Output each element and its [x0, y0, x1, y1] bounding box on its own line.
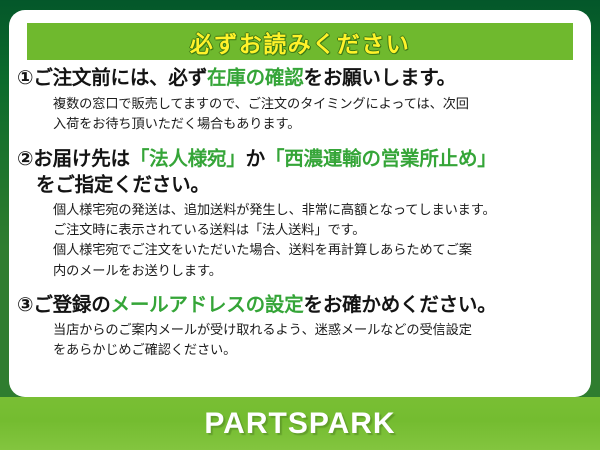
notice-items-list: ①ご注文前には、必ず在庫の確認をお願いします。 複数の窓口で販売してますので、ご… [9, 66, 591, 360]
footer-brand-bar: PARTSPARK [0, 397, 600, 450]
notice-item-3: ③ご登録のメールアドレスの設定をお確かめください。 当店からのご案内メールが受け… [9, 293, 591, 361]
notice-item-2-heading-highlight: 「法人様宛」 [130, 148, 246, 170]
notice-item-2-heading-highlight-2: 「西濃運輸の営業所止め」 [265, 148, 497, 170]
notice-item-2-body-line-3: 個人様宅宛でご注文をいただいた場合、送料を再計算しあらためてご案 [53, 240, 581, 260]
notice-item-2-heading-line-2: をご指定ください。 [17, 173, 581, 199]
notice-item-2-heading-mid: か [246, 148, 265, 170]
notice-item-1-body-line-1: 複数の窓口で販売してますので、ご注文のタイミングによっては、次回 [53, 94, 581, 114]
notice-item-2-body: 個人様宅宛の発送は、追加送料が発生し、非常に高額となってしまいます。 ご注文時に… [17, 198, 581, 280]
notice-item-1-body-line-2: 入荷をお待ち頂いただく場合もあります。 [53, 114, 581, 134]
notice-card: 必ずお読みください ①ご注文前には、必ず在庫の確認をお願いします。 複数の窓口で… [9, 10, 591, 397]
notice-item-2: ②お届け先は「法人様宛」か「西濃運輸の営業所止め」 をご指定ください。 個人様宅… [9, 147, 591, 281]
notice-item-1-body: 複数の窓口で販売してますので、ご注文のタイミングによっては、次回 入荷をお待ち頂… [17, 92, 581, 134]
notice-item-1-heading-pre: ご注文前には、必ず [33, 67, 207, 89]
notice-item-2-heading: ②お届け先は「法人様宛」か「西濃運輸の営業所止め」 [17, 147, 581, 173]
notice-item-3-body-line-1: 当店からのご案内メールが受け取れるよう、迷惑メールなどの受信設定 [53, 320, 581, 340]
notice-item-2-body-line-4: 内のメールをお送りします。 [53, 261, 581, 281]
notice-item-1-heading: ①ご注文前には、必ず在庫の確認をお願いします。 [17, 66, 581, 92]
notice-item-3-body-line-2: をあらかじめご確認ください。 [53, 340, 581, 360]
notice-item-1-heading-post: をお願いします。 [304, 67, 456, 89]
notice-item-3-heading-highlight: メールアドレスの設定 [111, 294, 304, 316]
notice-item-2-number: ② [17, 148, 33, 170]
notice-banner: 必ずお読みください ①ご注文前には、必ず在庫の確認をお願いします。 複数の窓口で… [0, 0, 600, 450]
notice-item-1-number: ① [17, 67, 33, 89]
notice-item-3-heading-pre: ご登録の [33, 294, 110, 316]
notice-item-2-heading-pre: お届け先は [33, 148, 130, 170]
brand-name: PARTSPARK [204, 407, 395, 441]
header-band: 必ずお読みください [27, 23, 573, 60]
notice-item-3-heading-post: をお確かめください。 [304, 294, 497, 316]
header-title: 必ずお読みください [190, 25, 411, 59]
notice-item-2-body-line-1: 個人様宅宛の発送は、追加送料が発生し、非常に高額となってしまいます。 [53, 200, 581, 220]
notice-item-3-body: 当店からのご案内メールが受け取れるよう、迷惑メールなどの受信設定 をあらかじめご… [17, 318, 581, 360]
notice-item-2-body-line-2: ご注文時に表示されている送料は「法人送料」です。 [53, 220, 581, 240]
notice-item-3-heading: ③ご登録のメールアドレスの設定をお確かめください。 [17, 293, 581, 319]
notice-item-1-heading-highlight: 在庫の確認 [207, 67, 304, 89]
notice-item-1: ①ご注文前には、必ず在庫の確認をお願いします。 複数の窓口で販売してますので、ご… [9, 66, 591, 134]
notice-item-3-number: ③ [17, 294, 33, 316]
